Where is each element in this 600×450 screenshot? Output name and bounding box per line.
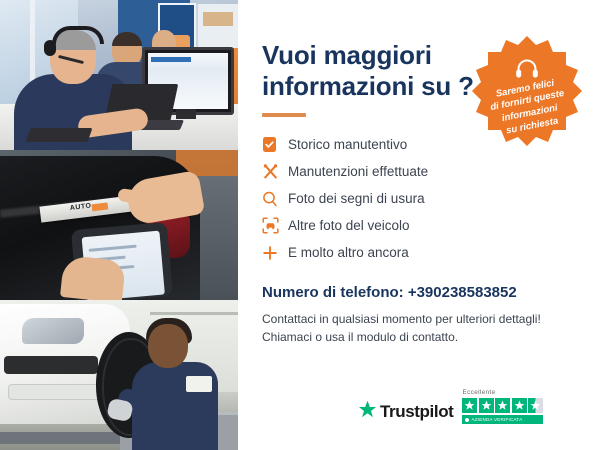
star-filled [495, 398, 510, 413]
vehicle-inspection-tablet-photo [0, 150, 238, 300]
mechanic-wheel-check-photo [0, 300, 238, 450]
list-item-label: Altre foto del veicolo [288, 218, 410, 233]
trustpilot-star-icon [358, 400, 377, 424]
list-item-label: Storico manutentivo [288, 137, 407, 152]
callout-badge: Saremo felici di fornirti queste informa… [462, 34, 592, 164]
car-focus-frame-icon [262, 217, 288, 234]
trustpilot-name: Trustpilot [380, 402, 453, 422]
star-filled [462, 398, 477, 413]
list-item: Altre foto del veicolo [262, 212, 578, 239]
call-center-agents-photo [0, 0, 238, 150]
star-filled [479, 398, 494, 413]
magnifier-icon [262, 191, 288, 207]
phone-number[interactable]: Numero di telefono: +390238583852 [262, 284, 578, 301]
list-item-label: Foto dei segni di usura [288, 191, 425, 206]
page-title-line-2: informazioni su ? [262, 71, 474, 101]
tools-cross-icon [262, 163, 288, 180]
rating-label: Eccellente [462, 389, 495, 396]
list-item: E molto altro ancora [262, 239, 578, 266]
promo-card: Vuoi maggiori informazioni su ? Storico … [0, 0, 600, 450]
trustpilot-rating[interactable]: Trustpilot Eccellente [358, 389, 543, 424]
star-rating [462, 398, 543, 413]
trustpilot-score: Eccellente [462, 389, 543, 424]
star-filled [512, 398, 527, 413]
contact-note-line-2: Chiamaci o usa il modulo di contatto. [262, 330, 458, 344]
verified-company-badge: AZIENDA VERIFICATA [462, 415, 543, 424]
checklist-icon [262, 136, 288, 153]
headset-icon [515, 58, 539, 85]
verified-check-icon [465, 418, 469, 422]
title-divider [262, 113, 306, 117]
photo-collage [0, 0, 238, 450]
page-title-line-1: Vuoi maggiori [262, 40, 432, 70]
starburst-shape [462, 34, 592, 164]
list-item: Foto dei segni di usura [262, 185, 578, 212]
contact-note: Contattaci in qualsiasi momento per ulte… [262, 310, 578, 346]
list-item-label: E molto altro ancora [288, 245, 409, 260]
info-panel: Vuoi maggiori informazioni su ? Storico … [238, 0, 600, 450]
plus-icon [262, 245, 288, 261]
list-item-label: Manutenzioni effettuate [288, 164, 428, 179]
trustpilot-logo: Trustpilot [358, 400, 453, 424]
contact-note-line-1: Contattaci in qualsiasi momento per ulte… [262, 312, 541, 326]
verified-label: AZIENDA VERIFICATA [471, 417, 522, 422]
star-half [528, 398, 543, 413]
